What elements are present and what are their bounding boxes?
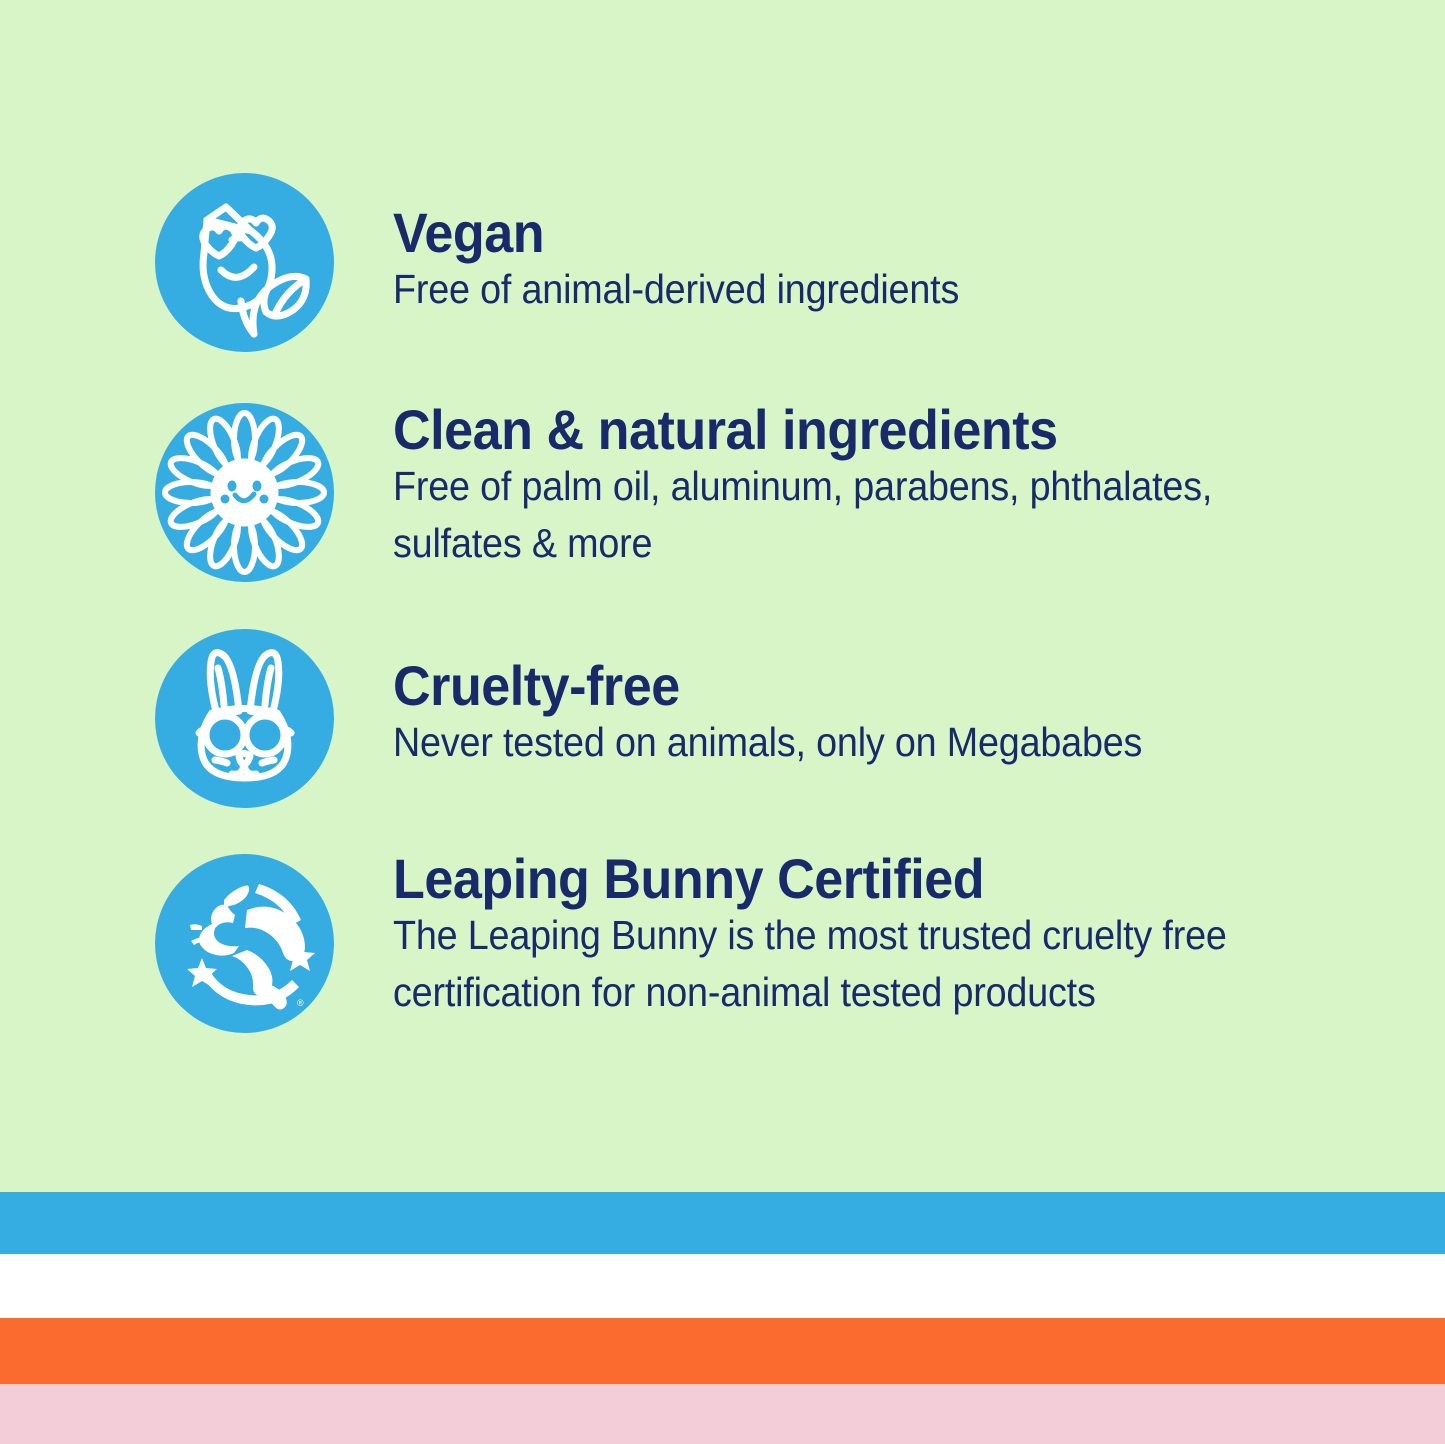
bunny-sunglasses-icon [155,629,334,808]
benefit-description-line: certification for non-animal tested prod… [393,964,1227,1021]
color-stripe-blue [0,1192,1445,1254]
benefit-description-line: sulfates & more [393,515,1212,572]
benefit-description-line: Free of palm oil, aluminum, parabens, ph… [393,458,1212,515]
sprout-sunglasses-icon [155,173,334,352]
benefit-title: Leaping Bunny Certified [393,850,1236,907]
benefit-description: Free of palm oil, aluminum, parabens, ph… [393,458,1212,571]
color-stripe-white [0,1254,1445,1318]
benefit-description: Never tested on animals, only on Megabab… [393,714,1142,771]
benefit-list: Vegan Free of animal-derived ingredients [0,0,1445,1192]
benefit-description: The Leaping Bunny is the most trusted cr… [393,907,1227,1020]
color-stripe-orange [0,1318,1445,1384]
benefit-title: Vegan [393,204,965,261]
benefit-description: Free of animal-derived ingredients [393,261,959,318]
benefit-text-clean-natural: Clean & natural ingredients Free of palm… [393,401,1283,571]
leaping-bunny-logo-icon: ® [155,854,334,1033]
daisy-smiley-icon [155,403,334,582]
color-stripe-pink [0,1384,1445,1444]
benefit-title: Clean & natural ingredients [393,401,1221,458]
product-benefits-infographic: Vegan Free of animal-derived ingredients [0,0,1445,1444]
benefit-description-line: The Leaping Bunny is the most trusted cr… [393,907,1227,964]
benefit-title: Cruelty-free [393,657,1150,714]
benefit-text-cruelty-free: Cruelty-free Never tested on animals, on… [393,657,1207,771]
benefit-text-leaping-bunny: Leaping Bunny Certified The Leaping Bunn… [393,850,1299,1020]
svg-text:®: ® [297,998,304,1008]
benefit-description-line: Free of animal-derived ingredients [393,261,959,318]
benefit-text-vegan: Vegan Free of animal-derived ingredients [393,204,1008,318]
benefit-description-line: Never tested on animals, only on Megabab… [393,714,1142,771]
